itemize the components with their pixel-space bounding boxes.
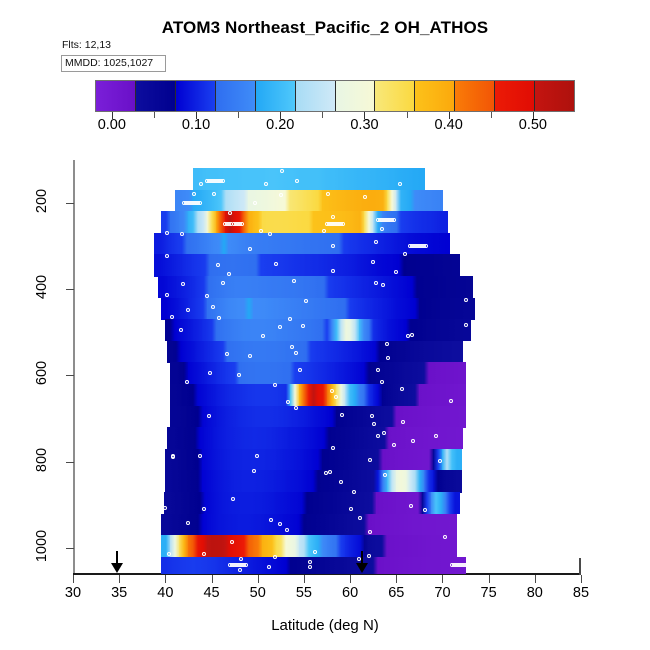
heatmap-cell — [450, 254, 460, 276]
heatmap-cell — [452, 470, 462, 492]
data-point-marker — [198, 201, 202, 205]
data-point-marker — [443, 535, 447, 539]
heatmap-cell — [447, 514, 457, 536]
x-axis-tick-label: 50 — [250, 585, 266, 601]
y-axis-tick-label: 800 — [34, 440, 50, 480]
heatmap-cell — [463, 276, 473, 298]
data-point-marker — [411, 439, 415, 443]
x-axis-tick — [119, 575, 120, 583]
data-point-marker — [434, 434, 438, 438]
data-point-marker — [216, 263, 220, 267]
data-point-marker — [322, 229, 326, 233]
x-axis-title: Latitude (deg N) — [0, 617, 650, 634]
data-point-marker — [279, 193, 283, 197]
y-axis-tick-label: 400 — [34, 267, 50, 307]
data-point-marker — [259, 229, 263, 233]
x-axis-tick-label: 85 — [573, 585, 589, 601]
arrow-head — [356, 563, 368, 573]
data-point-marker — [165, 231, 169, 235]
colorbar-segment-6 — [336, 81, 376, 111]
data-point-marker — [449, 399, 453, 403]
data-point-marker — [198, 454, 202, 458]
colorbar-segment-8 — [415, 81, 455, 111]
x-axis-tick-label: 75 — [481, 585, 497, 601]
data-point-marker — [308, 565, 312, 569]
data-point-marker — [392, 218, 396, 222]
colorbar-segment-11 — [535, 81, 574, 111]
data-point-marker — [231, 497, 235, 501]
heatmap-cell — [456, 406, 466, 428]
data-point-marker — [264, 182, 268, 186]
data-point-marker — [466, 563, 470, 567]
x-axis-tick — [581, 575, 582, 583]
y-axis-tick-label: 600 — [34, 353, 50, 393]
data-point-marker — [381, 283, 385, 287]
data-point-marker — [185, 380, 189, 384]
profile-arrow-1 — [111, 551, 124, 573]
x-axis-tick — [304, 575, 305, 583]
heatmap-cell — [456, 384, 466, 406]
heatmap-cell — [452, 449, 462, 471]
data-point-marker — [423, 508, 427, 512]
colorbar-segment-9 — [455, 81, 495, 111]
x-axis-tick — [258, 575, 259, 583]
data-point-marker — [331, 215, 335, 219]
colorbar-gradient — [95, 80, 575, 112]
data-point-marker — [202, 552, 206, 556]
data-point-marker — [165, 293, 169, 297]
y-axis-tick-label: 200 — [34, 181, 50, 221]
colorbar-segment-5 — [296, 81, 336, 111]
data-point-marker — [410, 333, 414, 337]
x-axis-tick — [165, 575, 166, 583]
heatmap-cell — [441, 233, 451, 255]
heatmap-cell — [454, 341, 464, 363]
heatmap-canvas — [73, 168, 581, 574]
plot-area — [73, 168, 581, 574]
heatmap-cell — [456, 362, 466, 384]
data-point-marker — [294, 406, 298, 410]
heatmap-cell — [438, 211, 448, 233]
x-axis-tick — [350, 575, 351, 583]
x-axis-tick-label: 70 — [434, 585, 450, 601]
x-axis-tick-label: 40 — [157, 585, 173, 601]
profile-arrow-2 — [356, 551, 369, 573]
data-point-marker — [334, 395, 338, 399]
colorbar-segment-2 — [176, 81, 216, 111]
x-axis-tick-label: 65 — [388, 585, 404, 601]
colorbar-tick-labels: 0.000.100.200.300.400.50 — [0, 117, 650, 135]
colorbar — [95, 80, 575, 112]
colorbar-tick-label: 0.10 — [182, 117, 210, 133]
colorbar-segment-7 — [375, 81, 415, 111]
data-point-marker — [248, 247, 252, 251]
data-point-marker — [274, 262, 278, 266]
x-axis-tick — [535, 575, 536, 583]
heatmap-cell — [454, 427, 464, 449]
mmdd-label: MMDD: 1025,1027 — [65, 57, 153, 69]
colorbar-tick-label: 0.20 — [266, 117, 294, 133]
data-point-marker — [339, 480, 343, 484]
flights-label: Flts: 12,13 — [62, 39, 111, 51]
data-point-marker — [464, 323, 468, 327]
heatmap-cell — [415, 168, 425, 190]
x-axis-tick — [489, 575, 490, 583]
data-point-marker — [280, 169, 284, 173]
data-point-marker — [371, 260, 375, 264]
x-axis-tick-label: 60 — [342, 585, 358, 601]
colorbar-segment-3 — [216, 81, 256, 111]
x-axis-tick — [73, 575, 74, 583]
data-point-marker — [376, 368, 380, 372]
colorbar-tick-label: 0.30 — [350, 117, 378, 133]
data-point-marker — [368, 530, 372, 534]
data-point-marker — [267, 565, 271, 569]
data-point-marker — [237, 373, 241, 377]
x-axis-tick — [212, 575, 213, 583]
heatmap-cell — [450, 492, 460, 514]
colorbar-segment-0 — [96, 81, 136, 111]
data-point-marker — [358, 516, 362, 520]
colorbar-tick-label: 0.40 — [435, 117, 463, 133]
data-point-marker — [304, 299, 308, 303]
data-point-marker — [349, 507, 353, 511]
data-point-marker — [240, 222, 244, 226]
data-point-marker — [225, 352, 229, 356]
data-point-marker — [398, 182, 402, 186]
heatmap-cell — [447, 535, 457, 557]
data-point-marker — [211, 305, 215, 309]
x-axis-tick-label: 45 — [203, 585, 219, 601]
x-axis-tick-label: 55 — [296, 585, 312, 601]
x-axis-tick-label: 80 — [527, 585, 543, 601]
colorbar-segment-10 — [495, 81, 535, 111]
y-axis-tick-label: 1000 — [34, 526, 50, 566]
data-point-marker — [253, 201, 257, 205]
data-point-marker — [208, 371, 212, 375]
x-axis-tick-label: 35 — [111, 585, 127, 601]
colorbar-tick-label: 0.50 — [519, 117, 547, 133]
colorbar-segment-1 — [136, 81, 176, 111]
colorbar-tick-label: 0.00 — [98, 117, 126, 133]
data-point-marker — [238, 568, 242, 572]
data-point-marker — [212, 192, 216, 196]
data-point-marker — [202, 507, 206, 511]
page-title: ATOM3 Northeast_Pacific_2 OH_ATHOS — [0, 18, 650, 38]
data-point-marker — [288, 317, 292, 321]
colorbar-segment-4 — [256, 81, 296, 111]
x-axis-tick — [442, 575, 443, 583]
data-point-marker — [382, 431, 386, 435]
x-axis-tick-label: 30 — [65, 585, 81, 601]
x-axis-tick — [396, 575, 397, 583]
heatmap-cell — [433, 190, 443, 212]
arrow-head — [111, 563, 123, 573]
data-point-marker — [239, 557, 243, 561]
